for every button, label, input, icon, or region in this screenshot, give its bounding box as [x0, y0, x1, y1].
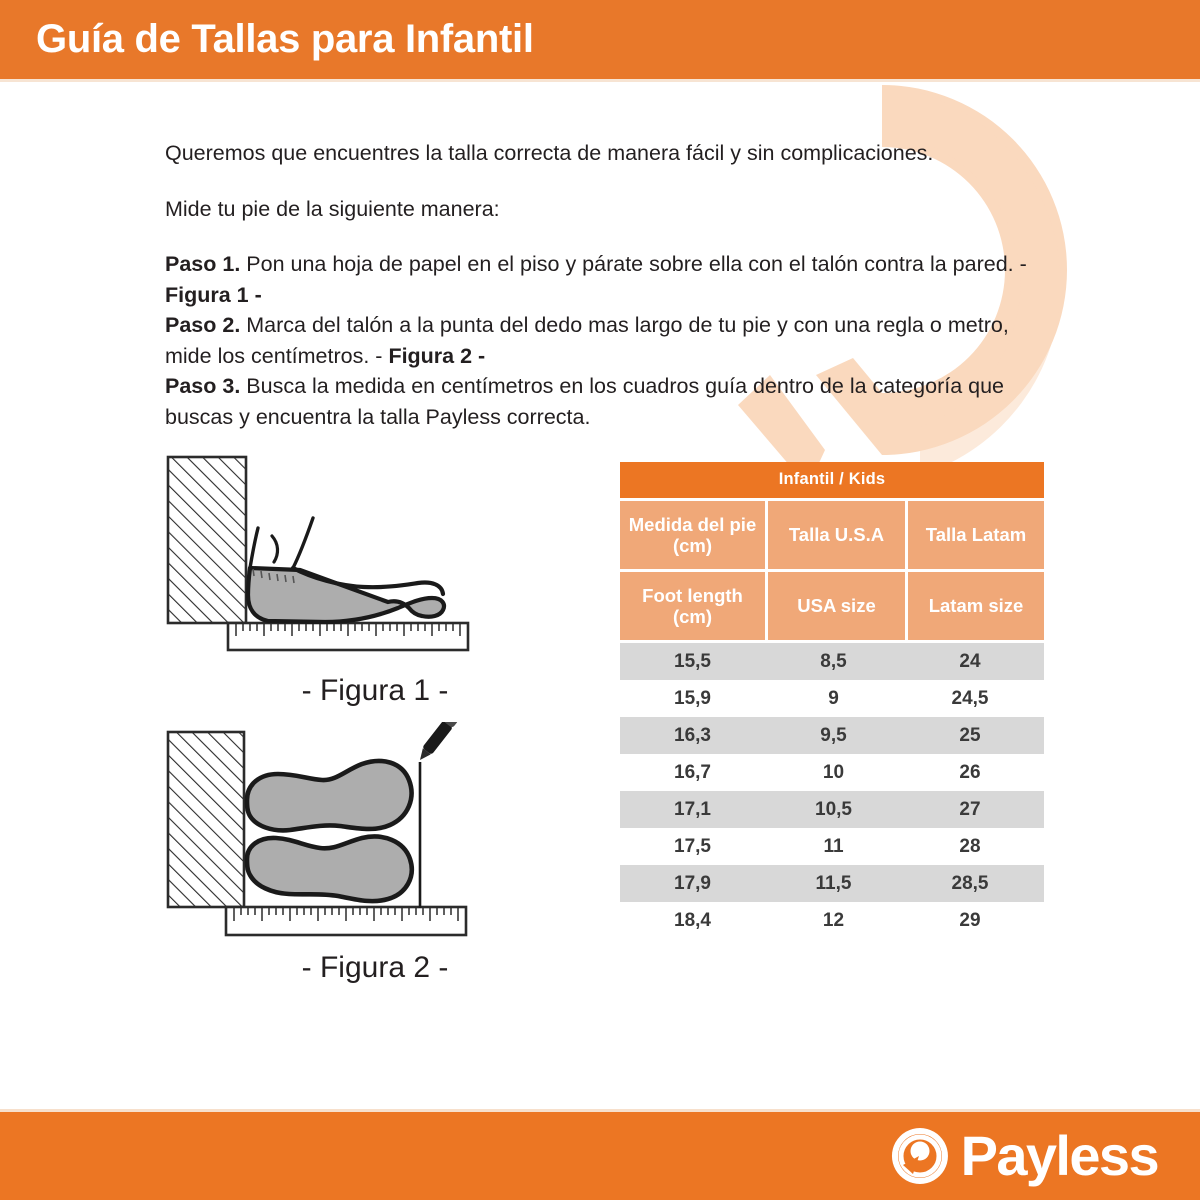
- step-1-text: Pon una hoja de papel en el piso y párat…: [240, 252, 1026, 276]
- table-body: 15,58,52415,9924,516,39,52516,7102617,11…: [620, 643, 1044, 939]
- header-cell-usa-size-en: USA size: [768, 572, 905, 640]
- step-2: Paso 2. Marca del talón a la punta del d…: [165, 310, 1045, 371]
- table-row: 16,71026: [620, 754, 1044, 791]
- footprints-top-view-illustration: [150, 722, 580, 944]
- step-1-figure-ref: Figura 1: [165, 283, 249, 307]
- intro-line-2: Mide tu pie de la siguiente manera:: [165, 194, 1045, 225]
- table-row: 15,9924,5: [620, 680, 1044, 717]
- header-cell-foot-length-en: Foot length (cm): [620, 572, 765, 640]
- page-title: Guía de Tallas para Infantil: [36, 17, 534, 62]
- table-cell: 24: [902, 651, 1038, 673]
- payless-wordmark: Payless: [961, 1128, 1158, 1184]
- table-row: 17,911,528,5: [620, 865, 1044, 902]
- payless-logo-mark-icon: [889, 1125, 951, 1187]
- table-title: Infantil / Kids: [620, 462, 1044, 498]
- table-cell: 9,5: [765, 725, 902, 747]
- step-3-text: Busca la medida en centímetros en los cu…: [165, 374, 1004, 429]
- table-cell: 25: [902, 725, 1038, 747]
- table-cell: 29: [902, 910, 1038, 932]
- step-1-label: Paso 1.: [165, 252, 240, 276]
- table-row: 16,39,525: [620, 717, 1044, 754]
- step-1: Paso 1. Pon una hoja de papel en el piso…: [165, 249, 1045, 310]
- header-cell-latam-size-es: Talla Latam: [908, 501, 1044, 569]
- header-cell-usa-size-es: Talla U.S.A: [768, 501, 905, 569]
- table-cell: 11: [765, 836, 902, 858]
- step-2-figure-ref: Figura 2: [388, 344, 472, 368]
- step-3: Paso 3. Busca la medida en centímetros e…: [165, 371, 1045, 432]
- table-cell: 28: [902, 836, 1038, 858]
- table-cell: 27: [902, 799, 1038, 821]
- table-cell: 24,5: [902, 688, 1038, 710]
- figure-2: - Figura 2 -: [150, 722, 580, 987]
- table-cell: 15,9: [620, 688, 765, 710]
- foot-side-view-illustration: [150, 452, 580, 667]
- table-row: 18,41229: [620, 902, 1044, 939]
- table-cell: 10,5: [765, 799, 902, 821]
- table-cell: 17,9: [620, 873, 765, 895]
- table-header-row-spanish: Medida del pie (cm) Talla U.S.A Talla La…: [620, 501, 1044, 569]
- table-cell: 26: [902, 762, 1038, 784]
- step-2-text: Marca del talón a la punta del dedo mas …: [165, 313, 1009, 368]
- table-cell: 18,4: [620, 910, 765, 932]
- table-cell: 11,5: [765, 873, 902, 895]
- payless-logo: Payless: [889, 1125, 1158, 1187]
- table-row: 17,51128: [620, 828, 1044, 865]
- figure-1-caption: - Figura 1 -: [170, 674, 580, 708]
- table-cell: 15,5: [620, 651, 765, 673]
- header-cell-foot-length-es: Medida del pie (cm): [620, 501, 765, 569]
- header-cell-latam-size-en: Latam size: [908, 572, 1044, 640]
- table-cell: 17,5: [620, 836, 765, 858]
- figure-1: - Figura 1 -: [150, 452, 580, 707]
- table-cell: 8,5: [765, 651, 902, 673]
- intro-line-1: Queremos que encuentres la talla correct…: [165, 138, 1045, 169]
- table-row: 17,110,527: [620, 791, 1044, 828]
- header-underline: [0, 79, 1200, 82]
- table-cell: 17,1: [620, 799, 765, 821]
- table-cell: 16,3: [620, 725, 765, 747]
- size-table: Infantil / Kids Medida del pie (cm) Tall…: [620, 462, 1044, 939]
- page-header: Guía de Tallas para Infantil: [0, 0, 1200, 79]
- instructions-block: Queremos que encuentres la talla correct…: [165, 138, 1045, 432]
- figure-2-caption: - Figura 2 -: [170, 951, 580, 985]
- table-row: 15,58,524: [620, 643, 1044, 680]
- table-cell: 9: [765, 688, 902, 710]
- step-3-label: Paso 3.: [165, 374, 240, 398]
- step-2-tail: -: [472, 344, 485, 368]
- table-cell: 12: [765, 910, 902, 932]
- table-cell: 16,7: [620, 762, 765, 784]
- step-1-tail: -: [249, 283, 262, 307]
- step-2-label: Paso 2.: [165, 313, 240, 337]
- table-cell: 28,5: [902, 873, 1038, 895]
- table-cell: 10: [765, 762, 902, 784]
- table-header-row-english: Foot length (cm) USA size Latam size: [620, 572, 1044, 640]
